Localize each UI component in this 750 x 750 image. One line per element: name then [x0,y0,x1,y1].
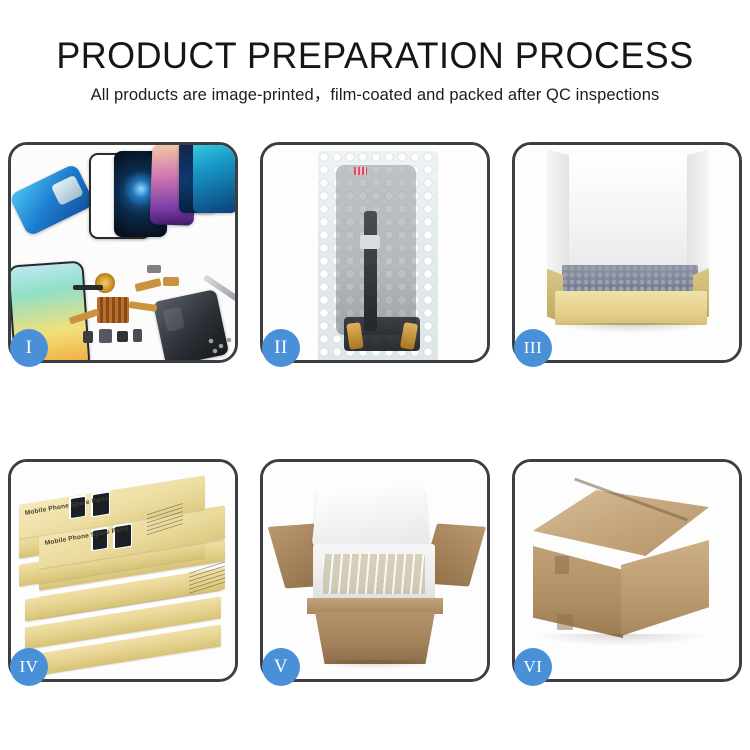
carton-top-face-icon [533,490,709,556]
blue-phone-icon [11,163,95,237]
step-badge-6: VI [514,648,552,686]
step-badge-3: III [514,329,552,367]
step-5-image [263,462,487,679]
box-tray-front-icon [555,291,707,325]
box-lid-flap-left-icon [547,150,569,273]
carton-tape-mark-icon [557,614,573,630]
chip-board-icon [97,297,129,323]
styrofoam-lid-icon [312,487,431,547]
sealed-carton-photo [515,462,739,679]
small-component-icon [133,329,142,342]
step-badge-2: II [262,329,300,367]
step-1-image [11,145,235,360]
red-qc-label-icon [354,167,367,175]
box-lid-flap-right-icon [687,150,709,273]
small-component-icon [99,329,112,343]
flex-cable-icon [129,301,158,312]
carton-rim-icon [307,598,443,614]
step-badge-5: V [262,648,300,686]
step-2-image [263,145,487,360]
small-component-icon [147,265,161,273]
phone-parts-photo [11,145,235,360]
process-step-panel-3: III [512,142,742,363]
bubble-wrapped-lcd-photo [263,145,487,360]
page-title: PRODUCT PREPARATION PROCESS [11,0,739,78]
teal-phone-icon [193,145,235,213]
step-3-image [515,145,739,360]
carton-with-foam-photo [263,462,487,679]
box-lid-icon [551,157,709,277]
open-box-with-foam-photo [515,145,739,360]
step-badge-1: I [10,329,48,367]
carton-left-face-icon [533,546,623,638]
step-4-image: Mobile Phone Spare Parts Mobile Phone Sp… [11,462,235,679]
carton-right-face-icon [621,540,709,636]
process-step-panel-4: Mobile Phone Spare Parts Mobile Phone Sp… [8,459,238,682]
carton-body-icon [315,612,435,664]
drop-shadow [315,660,435,670]
flex-cable-icon [134,278,161,292]
page-subtitle: All products are image-printed，film-coat… [0,78,750,106]
screws-icon [207,337,233,355]
process-step-grid: I II [8,142,742,682]
process-step-panel-2: II [260,142,490,363]
speaker-coil-icon [95,273,115,293]
small-component-icon [83,331,93,343]
step-badge-4: IV [10,648,48,686]
bubble-wrap-bag-icon [318,151,438,360]
lcd-connector-icon [360,235,380,249]
flex-cable-icon [73,285,103,290]
stacked-boxes-photo: Mobile Phone Spare Parts Mobile Phone Sp… [11,462,235,679]
carton-tape-mark-icon [555,556,569,574]
header: PRODUCT PREPARATION PROCESS All products… [0,0,750,106]
small-component-icon [163,277,179,286]
drop-shadow [555,323,707,333]
process-step-panel-1: I [8,142,238,363]
small-component-icon [117,331,128,342]
drop-shadow [535,634,707,646]
step-6-image [515,462,739,679]
lcd-flex-cable-icon [364,211,377,331]
process-step-panel-5: V [260,459,490,682]
process-step-panel-6: VI [512,459,742,682]
infographic-page: PRODUCT PREPARATION PROCESS All products… [0,0,750,750]
packed-yellow-boxes-icon [323,554,425,594]
